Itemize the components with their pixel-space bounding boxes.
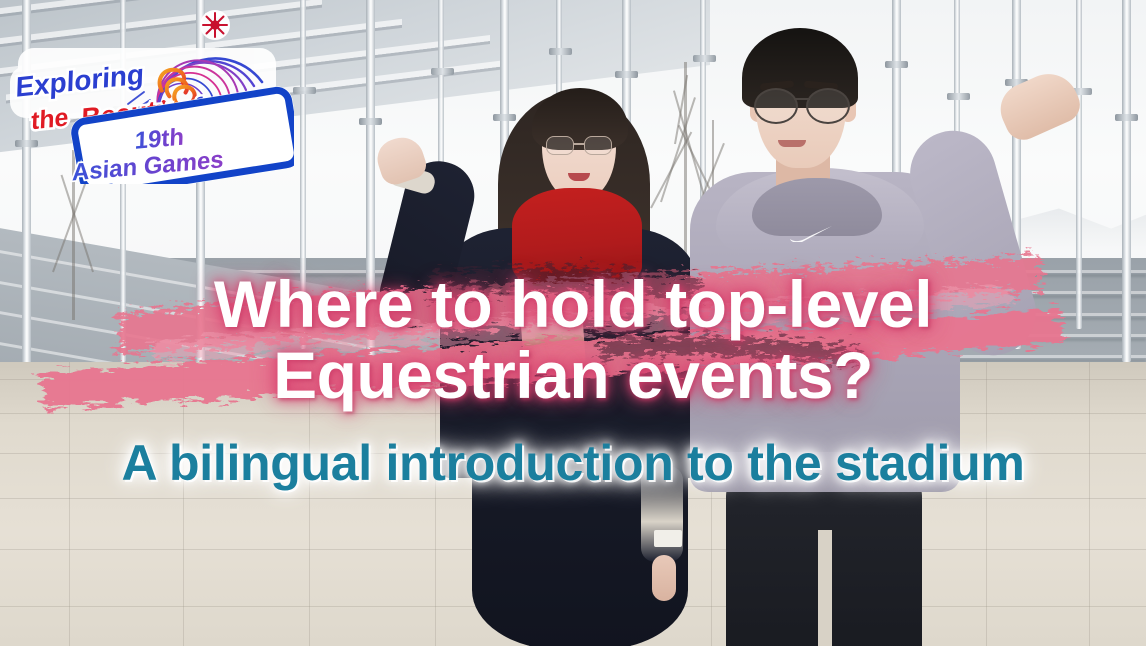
nike-swoosh-icon [790, 226, 832, 242]
woman-sleeve-tag [654, 530, 682, 547]
title-line-1: Where to hold top-level [0, 272, 1146, 337]
man-leg-gap [818, 530, 832, 646]
man-glasses [754, 88, 850, 120]
woman-right-hand [652, 555, 676, 601]
title-line-2: Equestrian events? [0, 343, 1146, 408]
headline-title: Where to hold top-level Equestrian event… [0, 272, 1146, 407]
red-flower-emblem-icon [198, 8, 232, 42]
logo-word-the: the [31, 103, 69, 135]
man-mouth [778, 140, 806, 147]
program-logo: Exploring the Beauty of 19th Asian Games [8, 34, 294, 184]
subtitle-line: A bilingual introduction to the stadium [0, 434, 1146, 492]
woman-glasses [546, 136, 612, 154]
thumbnail-canvas: Where to hold top-level Equestrian event… [0, 0, 1146, 646]
